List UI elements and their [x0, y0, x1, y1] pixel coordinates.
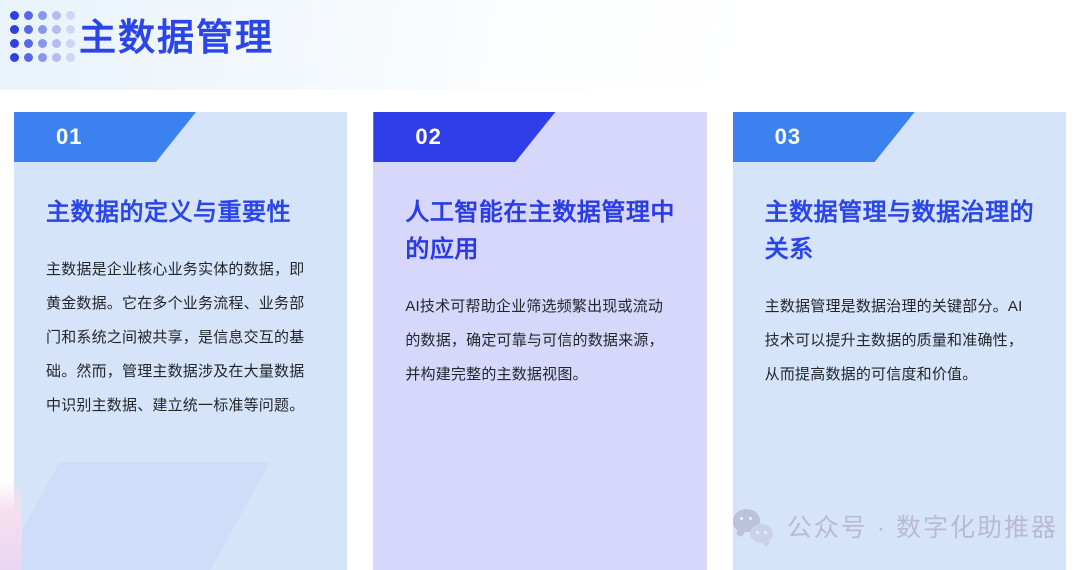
card-03-badge: 03 [733, 112, 915, 162]
card-02-body: 人工智能在主数据管理中的应用 AI技术可帮助企业筛选频繁出现或流动的数据，确定可… [373, 162, 706, 392]
card-02-number: 02 [415, 112, 441, 162]
card-deck: 01 主数据的定义与重要性 主数据是企业核心业务实体的数据，即黄金数据。它在多个… [14, 112, 1066, 570]
dot-grid-icon [10, 11, 80, 67]
card-01-badge-wrap: 01 [14, 112, 347, 162]
header-band: 主数据管理 [0, 0, 1080, 90]
card-02[interactable]: 02 人工智能在主数据管理中的应用 AI技术可帮助企业筛选频繁出现或流动的数据，… [373, 112, 706, 570]
card-03-body: 主数据管理与数据治理的关系 主数据管理是数据治理的关键部分。AI技术可以提升主数… [733, 162, 1066, 392]
card-03[interactable]: 03 主数据管理与数据治理的关系 主数据管理是数据治理的关键部分。AI技术可以提… [733, 112, 1066, 570]
card-01-title: 主数据的定义与重要性 [46, 194, 317, 231]
card-03-number: 03 [775, 112, 801, 162]
card-01[interactable]: 01 主数据的定义与重要性 主数据是企业核心业务实体的数据，即黄金数据。它在多个… [14, 112, 347, 570]
card-01-text: 主数据是企业核心业务实体的数据，即黄金数据。它在多个业务流程、业务部门和系统之间… [46, 253, 317, 423]
card-01-badge: 01 [14, 112, 196, 162]
card-01-number: 01 [56, 112, 82, 162]
card-02-badge: 02 [373, 112, 555, 162]
card-03-badge-wrap: 03 [733, 112, 1066, 162]
card-03-title: 主数据管理与数据治理的关系 [765, 194, 1036, 268]
card-03-text: 主数据管理是数据治理的关键部分。AI技术可以提升主数据的质量和准确性，从而提高数… [765, 290, 1036, 392]
card-02-text: AI技术可帮助企业筛选频繁出现或流动的数据，确定可靠与可信的数据来源，并构建完整… [405, 290, 676, 392]
card-01-body: 主数据的定义与重要性 主数据是企业核心业务实体的数据，即黄金数据。它在多个业务流… [14, 162, 347, 423]
card-02-badge-wrap: 02 [373, 112, 706, 162]
page-title: 主数据管理 [79, 12, 274, 64]
card-02-title: 人工智能在主数据管理中的应用 [405, 194, 676, 268]
slide-root: 主数据管理 01 主数据的定义与重要性 主数据是企业核心业务实体的数据，即黄金数… [0, 0, 1080, 570]
